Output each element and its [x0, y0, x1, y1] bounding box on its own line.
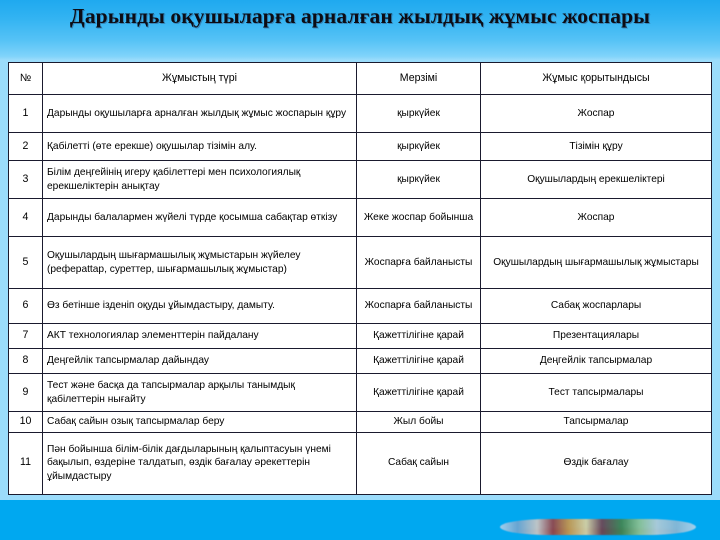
cell-work-type: Оқушылардың шығармашылық жұмыстарын жүйе…: [43, 237, 357, 289]
column-header-term: Мерзімі: [357, 63, 481, 95]
column-header-result: Жұмыс қорытындысы: [481, 63, 712, 95]
cell-number: 2: [9, 133, 43, 161]
cell-result: Оқушылардың ерекшеліктері: [481, 161, 712, 199]
slide: Дарынды оқушыларға арналған жылдық жұмыс…: [0, 0, 720, 540]
cell-result: Өздік бағалау: [481, 432, 712, 494]
table-row: 3Білім деңгейінің игеру қабілеттері мен …: [9, 161, 712, 199]
cell-term: Жеке жоспар бойынша: [357, 199, 481, 237]
cell-term: қыркүйек: [357, 161, 481, 199]
cell-result: Жоспар: [481, 199, 712, 237]
cell-work-type: Тест және басқа да тапсырмалар арқылы та…: [43, 374, 357, 412]
table-row: 6Өз бетінше ізденіп оқуды ұйымдастыру, д…: [9, 289, 712, 324]
cell-number: 8: [9, 349, 43, 374]
cell-number: 10: [9, 412, 43, 433]
cell-term: қыркүйек: [357, 95, 481, 133]
column-header-work-type: Жұмыстың түрі: [43, 63, 357, 95]
table-row: 7АКТ технологиялар элементтерін пайдалан…: [9, 324, 712, 349]
cell-number: 5: [9, 237, 43, 289]
cell-term: қыркүйек: [357, 133, 481, 161]
table-row: 1Дарынды оқушыларға арналған жылдық жұмы…: [9, 95, 712, 133]
cell-work-type: Деңгейлік тапсырмалар дайындау: [43, 349, 357, 374]
cell-work-type: Дарынды оқушыларға арналған жылдық жұмыс…: [43, 95, 357, 133]
cell-result: Тапсырмалар: [481, 412, 712, 433]
column-header-number: №: [9, 63, 43, 95]
cell-term: Жоспарға байланысты: [357, 289, 481, 324]
cell-number: 9: [9, 374, 43, 412]
page-title: Дарынды оқушыларға арналған жылдық жұмыс…: [0, 3, 720, 29]
cell-term: Жоспарға байланысты: [357, 237, 481, 289]
table-row: 8Деңгейлік тапсырмалар дайындауҚажеттілі…: [9, 349, 712, 374]
cell-number: 7: [9, 324, 43, 349]
cell-result: Сабақ жоспарлары: [481, 289, 712, 324]
table-row: 5Оқушылардың шығармашылық жұмыстарын жүй…: [9, 237, 712, 289]
cell-result: Тізімін құру: [481, 133, 712, 161]
table-row: 4Дарынды балалармен жүйелі түрде қосымша…: [9, 199, 712, 237]
cell-number: 3: [9, 161, 43, 199]
plan-table-body: 1Дарынды оқушыларға арналған жылдық жұмы…: [9, 95, 712, 495]
cell-result: Оқушылардың шығармашылық жұмыстары: [481, 237, 712, 289]
cell-term: Қажеттілігіне қарай: [357, 324, 481, 349]
table-row: 9Тест және басқа да тапсырмалар арқылы т…: [9, 374, 712, 412]
cell-work-type: Сабақ сайын озық тапсырмалар беру: [43, 412, 357, 433]
cell-work-type: Қабілетті (өте ерекше) оқушылар тізімін …: [43, 133, 357, 161]
cell-result: Тест тапсырмалары: [481, 374, 712, 412]
table-row: 10Сабақ сайын озық тапсырмалар беруЖыл б…: [9, 412, 712, 433]
table-header-row: № Жұмыстың түрі Мерзімі Жұмыс қорытындыс…: [9, 63, 712, 95]
cell-number: 11: [9, 432, 43, 494]
cell-term: Қажеттілігіне қарай: [357, 374, 481, 412]
cell-result: Презентациялары: [481, 324, 712, 349]
cell-result: Деңгейлік тапсырмалар: [481, 349, 712, 374]
cell-work-type: Білім деңгейінің игеру қабілеттері мен п…: [43, 161, 357, 199]
yearly-plan-table: № Жұмыстың түрі Мерзімі Жұмыс қорытындыс…: [8, 62, 712, 495]
table-row: 11Пән бойынша білім-білік дағдыларының қ…: [9, 432, 712, 494]
cell-work-type: Дарынды балалармен жүйелі түрде қосымша …: [43, 199, 357, 237]
plan-table-container: № Жұмыстың түрі Мерзімі Жұмыс қорытындыс…: [8, 62, 711, 495]
cell-result: Жоспар: [481, 95, 712, 133]
cell-term: Қажеттілігіне қарай: [357, 349, 481, 374]
cell-term: Жыл бойы: [357, 412, 481, 433]
cell-number: 4: [9, 199, 43, 237]
cell-work-type: Өз бетінше ізденіп оқуды ұйымдастыру, да…: [43, 289, 357, 324]
cut-off-photo-strip-icon: [500, 519, 696, 535]
cell-number: 6: [9, 289, 43, 324]
cell-work-type: АКТ технологиялар элементтерін пайдалану: [43, 324, 357, 349]
table-row: 2Қабілетті (өте ерекше) оқушылар тізімін…: [9, 133, 712, 161]
cell-term: Сабақ сайын: [357, 432, 481, 494]
cell-number: 1: [9, 95, 43, 133]
cell-work-type: Пән бойынша білім-білік дағдыларының қал…: [43, 432, 357, 494]
